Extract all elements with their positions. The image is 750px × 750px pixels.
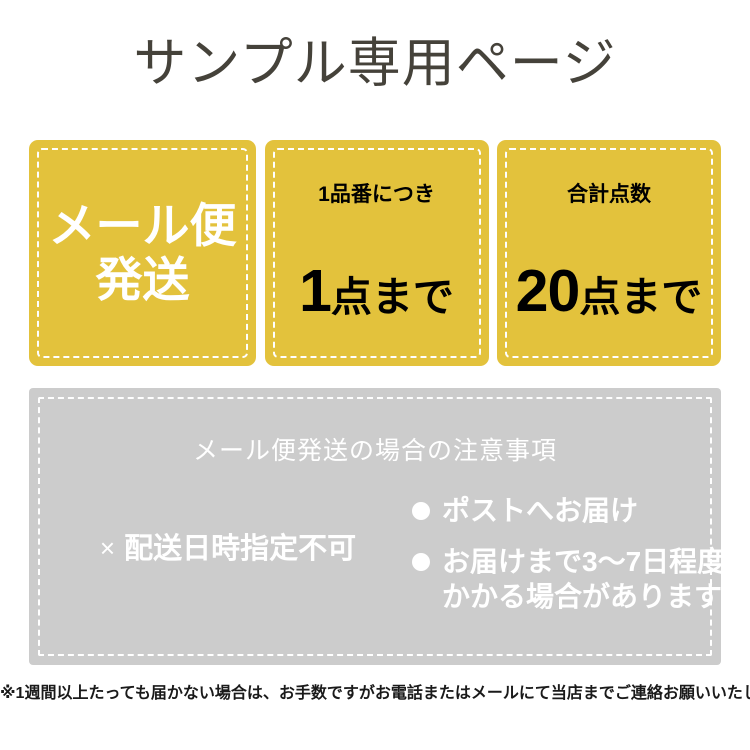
notice-restriction: ×配送日時指定不可 (63, 530, 393, 567)
footnote: ※1週間以上たっても届かない場合は、お手数ですがお電話またはメールにて当店までご… (0, 683, 750, 705)
feature-card-row: メール便 発送 1品番につき 1点まで 合計点数 20点まで (29, 140, 721, 366)
total-limit-unit: 点まで (579, 274, 702, 320)
total-limit-value: 20点まで (497, 262, 721, 336)
per-item-limit-number: 1 (299, 258, 331, 324)
feature-card-total-limit: 合計点数 20点まで (497, 140, 721, 366)
cross-icon: × (100, 533, 115, 563)
per-item-limit-value: 1点まで (265, 262, 489, 336)
notice-bullet-line-1: お届けまで3〜7日程度 (442, 546, 725, 577)
list-item: お届けまで3〜7日程度 かかる場合があります (412, 544, 712, 614)
per-item-limit-caption: 1品番につき (265, 183, 489, 207)
feature-card-shipping-method: メール便 発送 (29, 140, 256, 366)
page-title: サンプル専用ページ (0, 33, 750, 95)
notice-bullet-text: ポストへお届け (442, 493, 638, 528)
notice-bullet-text: お届けまで3〜7日程度 かかる場合があります (442, 544, 725, 614)
notice-restriction-label: 配送日時指定不可 (124, 533, 356, 565)
total-limit-number: 20 (516, 258, 580, 324)
notice-bullet-line-2: かかる場合があります (442, 579, 725, 614)
shipping-method-line-1: メール便 (49, 199, 237, 253)
notice-heading: メール便発送の場合の注意事項 (29, 436, 721, 466)
per-item-limit-unit: 点まで (331, 274, 454, 320)
feature-card-body: メール便 発送 (29, 140, 256, 366)
bullet-dot-icon (412, 553, 430, 571)
total-limit-caption: 合計点数 (497, 183, 721, 207)
bullet-dot-icon (412, 502, 430, 520)
notice-bullet-line-1: ポストへお届け (442, 495, 638, 526)
shipping-method-line-2: 発送 (96, 253, 190, 307)
list-item: ポストへお届け (412, 493, 712, 528)
notice-panel: メール便発送の場合の注意事項 ×配送日時指定不可 ポストへお届け お届けまで3〜… (29, 388, 721, 665)
notice-bullet-list: ポストへお届け お届けまで3〜7日程度 かかる場合があります (412, 493, 712, 614)
feature-card-per-item-limit: 1品番につき 1点まで (265, 140, 489, 366)
sample-shipping-banner: サンプル専用ページ メール便 発送 1品番につき 1点まで 合計点数 20点まで (0, 0, 750, 750)
